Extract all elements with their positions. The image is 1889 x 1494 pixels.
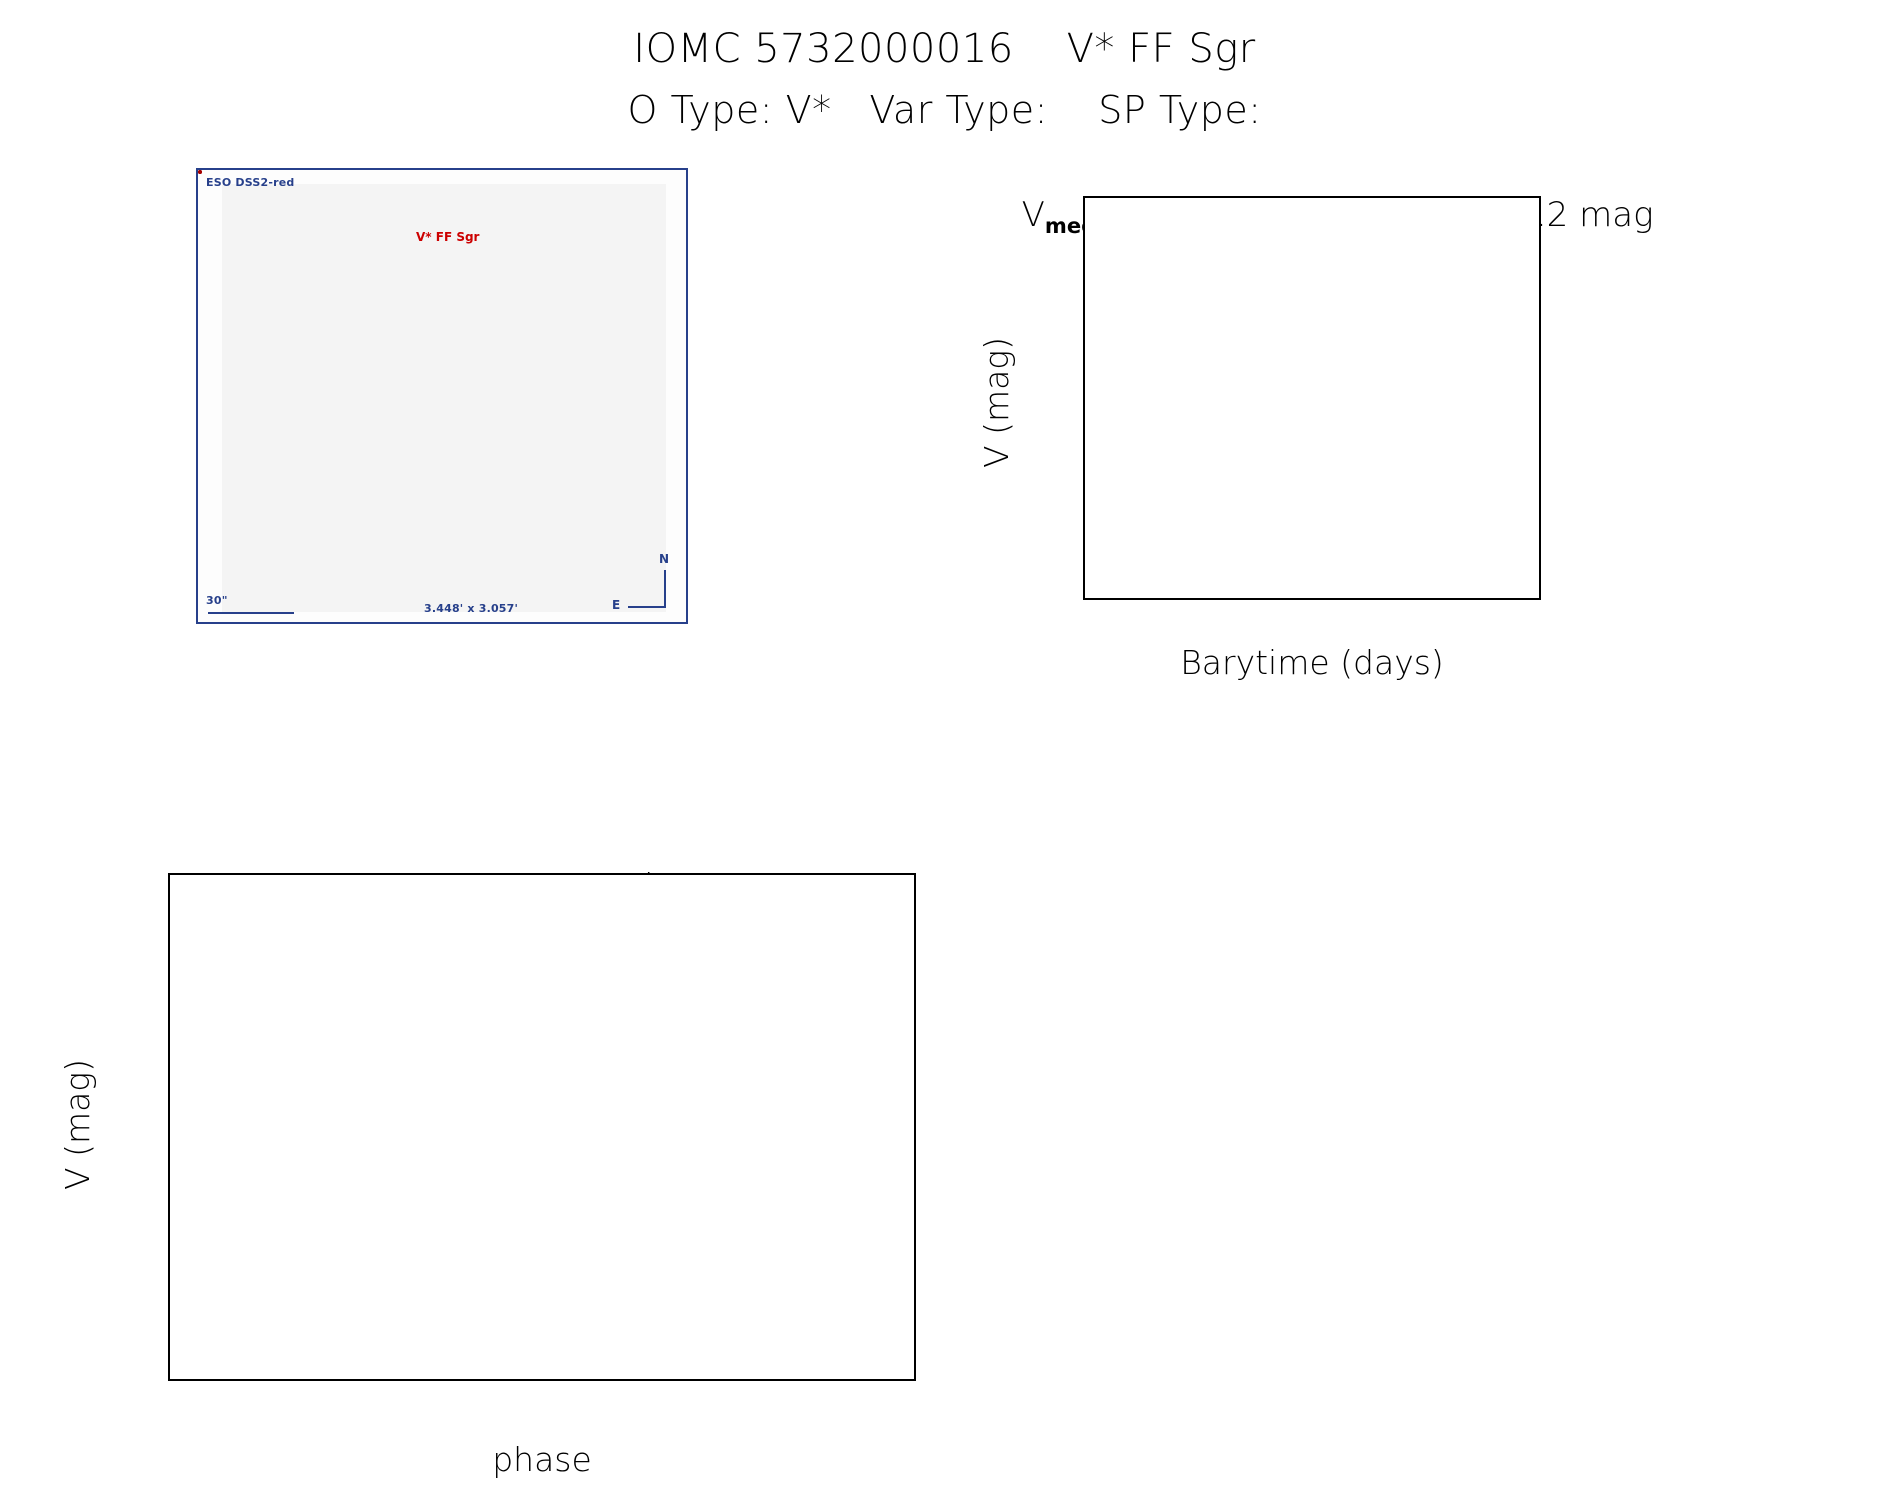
compass-east-label: E (612, 598, 620, 612)
finder-chart: ESO DSS2-red V* FF Sgr 30" 3.448' x 3.05… (196, 168, 688, 624)
aperture-circle (198, 170, 202, 174)
x-major-tick (1083, 588, 1085, 600)
phase-plot-area (168, 873, 916, 1381)
compass-east-arm (628, 606, 666, 608)
phase-y-axis-label: V (mag) (58, 1059, 97, 1190)
phase-x-axis-label: phase (168, 1440, 916, 1479)
compass-north-label: N (659, 552, 669, 566)
lightcurve-y-axis-label: V (mag) (977, 337, 1016, 468)
lightcurve-plot-area (1083, 196, 1541, 600)
survey-label: ESO DSS2-red (206, 176, 294, 189)
scale-bar (208, 612, 294, 614)
x-major-tick-top (1083, 196, 1085, 208)
compass-north-arm (664, 570, 666, 608)
lightcurve-title-prefix: V (1022, 195, 1045, 235)
scale-bar-label: 30" (206, 594, 228, 607)
page-title: IOMC 5732000016 V* FF Sgr (0, 26, 1889, 72)
field-size-label: 3.448' x 3.057' (424, 602, 518, 615)
lightcurve-x-axis-label: Barytime (days) (1083, 643, 1541, 682)
dss-image (222, 184, 666, 612)
star-name-label: V* FF Sgr (416, 230, 479, 244)
object-type-line: O Type: V* Var Type: SP Type: (0, 88, 1889, 132)
